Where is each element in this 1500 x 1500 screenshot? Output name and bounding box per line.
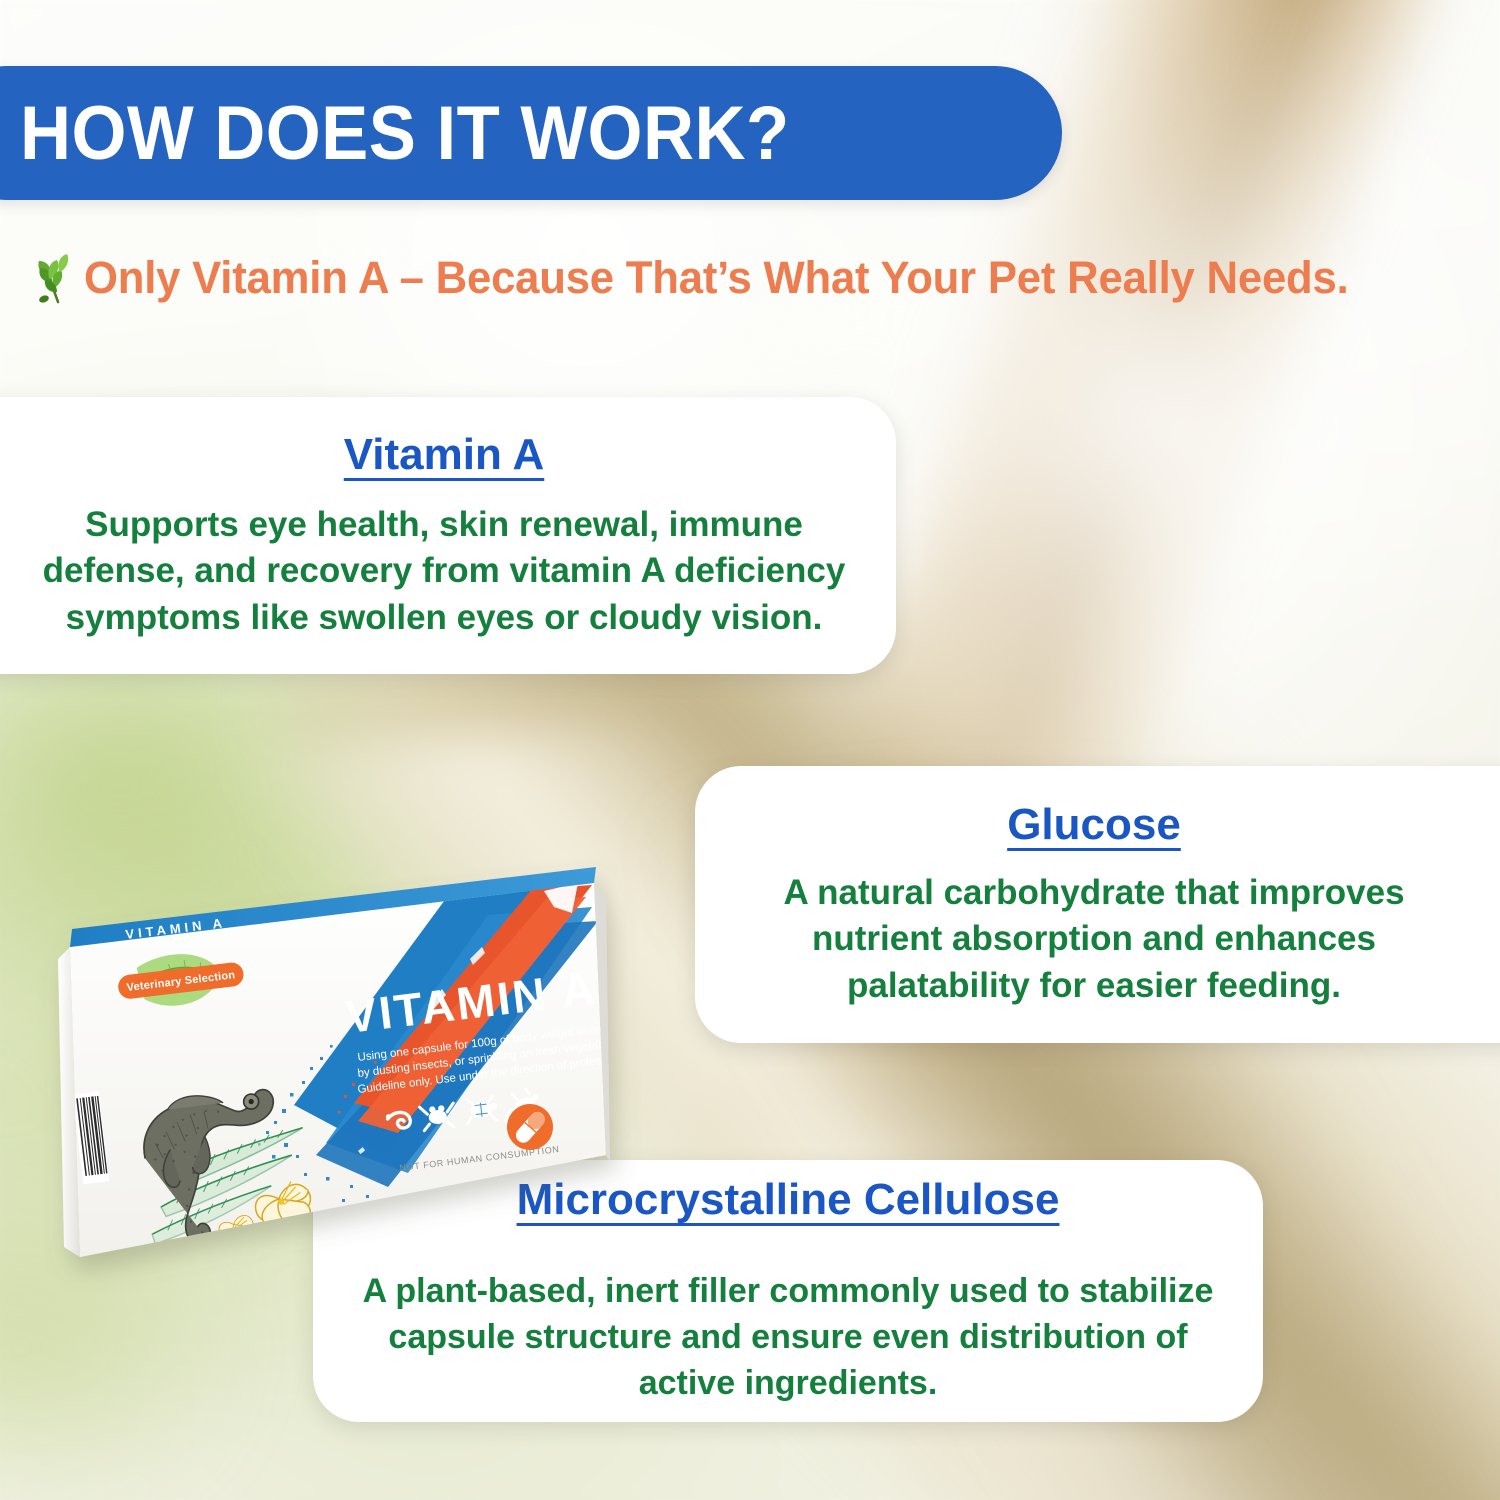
card-body-glucose: A natural carbohydrate that improves nut… [734,870,1454,1010]
subtitle-row: Only Vitamin A – Because That’s What You… [36,252,1388,304]
card-title-glucose: Glucose [1007,800,1181,850]
product-box-image: VITAMIN A Veterinary Selection [58,855,618,1305]
info-card-glucose: Glucose A natural carbohydrate that impr… [695,766,1500,1043]
page-title: HOW DOES IT WORK? [20,90,790,177]
info-card-vitamin-a: Vitamin A Supports eye health, skin rene… [0,397,896,674]
card-body-vitamin-a: Supports eye health, skin renewal, immun… [22,502,867,642]
header-banner: HOW DOES IT WORK? [0,66,1062,200]
subtitle-text: Only Vitamin A – Because That’s What You… [84,252,1349,304]
herb-leaf-icon [36,252,82,304]
card-title-vitamin-a: Vitamin A [344,430,545,480]
